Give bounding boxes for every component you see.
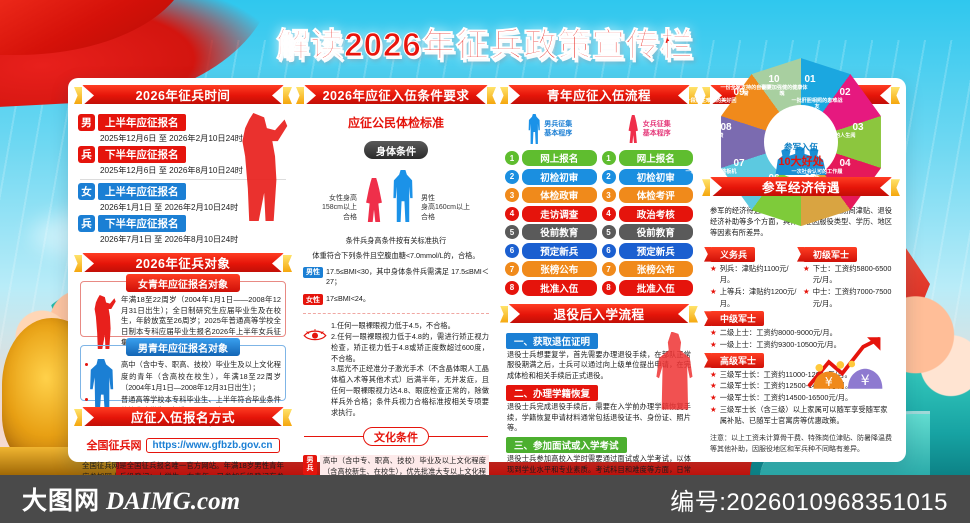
- flow-step[interactable]: 5役前教育: [602, 224, 694, 240]
- star-icon: ★: [710, 339, 717, 350]
- flow-step[interactable]: 6预定新兵: [602, 243, 694, 259]
- flow-step[interactable]: 4政治考核: [602, 206, 694, 222]
- male-second-half-label: 下半年应征报名: [98, 146, 186, 163]
- step-number: 3: [602, 188, 616, 202]
- pay-item-text: 中士：工资约7000-7500元/月。: [813, 286, 892, 309]
- step-number: 8: [602, 281, 616, 295]
- pay-item: ★一级军士长：工资约14500-16500元/月。: [710, 392, 892, 404]
- ribbon-notch-left: [710, 177, 722, 198]
- wheel-center-line2: 10大好处: [778, 153, 823, 169]
- section-header-economic-treatment: 参军经济待遇: [710, 177, 892, 196]
- retire-step-title: 二、办理学籍恢复: [506, 385, 598, 401]
- step-label: 张榜公布: [619, 261, 694, 277]
- star-icon: ★: [710, 380, 717, 391]
- pay-item: ★中士：工资约7000-7500元/月。: [803, 286, 892, 309]
- column-enlistment-time: 2026年征兵时间 男 上半年应征报名 2025年12月6日 至 2026年2月…: [74, 85, 292, 455]
- step-label: 走访调查: [522, 206, 597, 222]
- section-header-label: 青年应征入伍流程: [547, 85, 651, 104]
- ribbon-notch-left: [508, 85, 520, 106]
- pay-item-text: 下士：工资约5800-6500元/月。: [813, 263, 892, 286]
- flow-step[interactable]: 5役前教育: [505, 224, 597, 240]
- step-number: 5: [505, 225, 519, 239]
- page-title: 解读2026年征兵政策宣传栏: [0, 18, 970, 66]
- section-header-requirements: 2026年应征入伍条件要求: [304, 85, 488, 104]
- bmi-female-value: 17≤BMI<24。: [326, 294, 370, 305]
- step-number: 6: [505, 244, 519, 258]
- gov-site-row: 全国征兵网 https://www.gfbzb.gov.cn: [74, 437, 292, 453]
- section-header-enlistment-time: 2026年征兵时间: [82, 85, 284, 104]
- column-benefits-and-pay: 参军入伍十大好处 参军入伍 10大好处 01 一副更加强健的健康体魄 02 一批…: [702, 85, 900, 455]
- gov-site-label: 全国征兵网: [87, 437, 142, 453]
- step-label: 预定新兵: [619, 243, 694, 259]
- step-number: 5: [602, 225, 616, 239]
- pay-item: ★上等兵：津贴约1200元/月。: [710, 286, 799, 309]
- ribbon-notch-left: [82, 407, 94, 428]
- pay-group-title: 高级军士: [710, 353, 764, 368]
- step-number: 1: [505, 151, 519, 165]
- female-saluting-silhouette-icon: [85, 295, 117, 349]
- male-height-caption: 男性 身高160cm以上 合格: [421, 194, 470, 222]
- step-label: 网上报名: [619, 150, 694, 166]
- step-label: 初检初审: [619, 169, 694, 185]
- body-condition-title-wrap: 身体条件: [296, 137, 496, 162]
- male-object-title: 男青年应征报名对象: [126, 338, 240, 356]
- ribbon-notch-right: [678, 85, 690, 106]
- star-icon: ★: [803, 263, 810, 274]
- wheel-center-label: 参军入伍 10大好处: [764, 105, 838, 179]
- student-soldier-silhouette-icon: [652, 332, 696, 410]
- pay-item: ★下士：工资约5800-6500元/月。: [803, 263, 892, 286]
- section-header-enlistment-object: 2026年征兵对象: [82, 253, 284, 272]
- female-flow-steps: 1网上报名 2初检初审 3体检考评 4政治考核 5役前教育 6预定新兵 7张榜公…: [602, 150, 694, 296]
- section-header-process: 青年应征入伍流程: [508, 85, 690, 104]
- pay-item-text: 列兵：津贴约1100元/月。: [720, 263, 799, 286]
- pay-details: 义务兵 ★列兵：津贴约1100元/月。 ★上等兵：津贴约1200元/月。 初级军…: [702, 245, 900, 427]
- bmi-male-value: 17.5≤BMI<30，其中身体条件兵需满足 17.5≤BMI＜27；: [326, 267, 489, 289]
- male-figure-icon: [527, 114, 541, 144]
- flow-step[interactable]: 8批准入伍: [602, 280, 694, 296]
- special-condition-note: 条件兵身高条件按有关标准执行: [296, 236, 496, 247]
- pay-group-title: 义务兵: [710, 247, 755, 262]
- bmi-male-line: 男性 17.5≤BMI<30，其中身体条件兵需满足 17.5≤BMI＜27；: [296, 267, 496, 289]
- step-label: 批准入伍: [522, 280, 597, 296]
- culture-male-tag: 男兵: [303, 455, 317, 474]
- retire-step-title: 三、参加面试或入学考试: [506, 437, 627, 453]
- step-number: 7: [505, 262, 519, 276]
- step-label: 役前教育: [522, 224, 597, 240]
- footer-brand: 大图网 DAIMG.com: [22, 481, 240, 517]
- flow-step[interactable]: 4走访调查: [505, 206, 597, 222]
- ribbon-notch-left: [508, 304, 520, 325]
- ten-benefits-wheel: 参军入伍 10大好处 01 一副更加强健的健康体魄 02 一批肝胆相照的患难战友…: [702, 111, 900, 173]
- female-badge-char1: 女: [78, 183, 95, 200]
- flow-step[interactable]: 8批准入伍: [505, 280, 597, 296]
- star-icon: ★: [710, 327, 717, 338]
- step-label: 批准入伍: [619, 280, 694, 296]
- svg-text:¥: ¥: [861, 373, 870, 389]
- pay-group-conscript: 义务兵 ★列兵：津贴约1100元/月。 ★上等兵：津贴约1200元/月。: [710, 245, 799, 310]
- flow-step[interactable]: 2初检初审: [505, 169, 597, 185]
- female-enlistment-object-box: 女青年应征报名对象 年满18至22周岁（2004年1月1日——2008年12月3…: [80, 281, 286, 337]
- culture-title-wrap: 文化条件: [296, 422, 496, 449]
- column-enlistment-process: 青年应征入伍流程 男兵征集 基本程序 女兵征集 基本程序 1网上报名 2初检初审…: [500, 85, 698, 455]
- section-header-label: 2026年征兵时间: [136, 85, 231, 104]
- vision-item: 1.任何一眼裸眼视力低于4.5，不合格。: [331, 321, 489, 332]
- female-height-caption: 女性身高 158cm以上 合格: [322, 194, 357, 222]
- star-icon: ★: [710, 392, 717, 403]
- ribbon-notch-right: [880, 177, 892, 198]
- vision-items: 1.任何一眼裸眼视力低于4.5，不合格。 2.任何一眼裸眼视力低于4.8的，需进…: [331, 321, 489, 418]
- ribbon-notch-right: [880, 85, 892, 106]
- ribbon-notch-right: [678, 304, 690, 325]
- step-number: 2: [602, 170, 616, 184]
- pay-item-text: 三级军士长（含三级）以上家属可以随军享受随军家属补贴、已随军士官寓房等优惠政策。: [720, 404, 892, 427]
- vision-item: 2.任何一眼裸眼视力低于4.8的，需进行矫正视力检查，矫正视力低于4.8或矫正度…: [331, 332, 489, 364]
- male-flow-header: 男兵征集 基本程序: [527, 114, 572, 144]
- pay-item-text: 一级军士长：工资约14500-16500元/月。: [720, 392, 853, 404]
- male-badge-char2: 兵: [78, 146, 95, 163]
- ribbon-notch-right: [272, 85, 284, 106]
- enlistment-time-box: 男 上半年应征报名 2025年12月6日 至 2026年2月10日24时 兵 下…: [74, 111, 292, 249]
- step-number: 1: [602, 151, 616, 165]
- weight-note: 体重符合下列条件且空腹血糖<7.0mmol/L的，合格。: [296, 251, 496, 262]
- ribbon-notch-left: [304, 85, 316, 106]
- column-enlistment-requirements: 2026年应征入伍条件要求 应征公民体检标准 身体条件 女性身高 158cm以上…: [296, 85, 496, 455]
- flow-step[interactable]: 2初检初审: [602, 169, 694, 185]
- body-condition-title: 身体条件: [364, 141, 428, 159]
- bmi-male-tag: 男性: [303, 267, 323, 278]
- svg-text:¥: ¥: [825, 374, 833, 389]
- star-icon: ★: [803, 286, 810, 297]
- star-icon: ★: [710, 263, 717, 274]
- ribbon-notch-right: [476, 85, 488, 106]
- step-label: 体检考评: [619, 187, 694, 203]
- pay-group-title: 中级军士: [710, 311, 764, 326]
- male-flow-caption: 男兵征集 基本程序: [544, 120, 572, 138]
- female-figure-icon: [363, 178, 385, 222]
- pay-group-junior-sergeant: 初级军士 ★下士：工资约5800-6500元/月。 ★中士：工资约7000-75…: [803, 245, 892, 310]
- flow-columns: 1网上报名 2初检初审 3体检政审 4走访调查 5役前教育 6预定新兵 7张榜公…: [500, 150, 698, 296]
- divider-dashed: [303, 313, 489, 314]
- step-label: 役前教育: [619, 224, 694, 240]
- section-header-retire-enroll: 退役后入学流程: [508, 304, 690, 323]
- step-number: 2: [505, 170, 519, 184]
- wheel-center-line1: 参军入伍: [784, 141, 818, 153]
- height-figures: 女性身高 158cm以上 合格 男性 身高160cm以上 合格: [296, 170, 496, 222]
- content-board: 2026年征兵时间 男 上半年应征报名 2025年12月6日 至 2026年2月…: [68, 78, 906, 462]
- footer-bar: 大图网 DAIMG.com 编号:2026010968351015: [0, 475, 970, 523]
- step-label: 体检政审: [522, 187, 597, 203]
- footer-brand-en: DAIMG.com: [106, 488, 240, 516]
- vision-item: 3.屈光不正经准分子激光手术（不含晶体眼人工晶体植入术等其他术式）后满半年，无并…: [331, 364, 489, 418]
- step-label: 初检初审: [522, 169, 597, 185]
- flow-headers: 男兵征集 基本程序 女兵征集 基本程序: [500, 114, 698, 144]
- male-figure-icon: [391, 170, 415, 222]
- pay-item-text: 上等兵：津贴约1200元/月。: [720, 286, 799, 309]
- step-label: 政治考核: [619, 206, 694, 222]
- vision-block: 1.任何一眼裸眼视力低于4.5，不合格。 2.任何一眼裸眼视力低于4.8的，需进…: [296, 321, 496, 418]
- pay-group-title: 初级军士: [803, 247, 857, 262]
- ribbon-notch-left: [82, 85, 94, 106]
- money-growth-icon: ¥ ¥: [804, 333, 890, 393]
- section-header-label: 参军经济待遇: [762, 177, 840, 196]
- section-header-label: 退役后入学流程: [553, 304, 644, 323]
- section-header-label: 应征入伍报名方式: [131, 407, 235, 426]
- flow-step[interactable]: 1网上报名: [505, 150, 597, 166]
- section-header-label: 2026年应征入伍条件要求: [323, 85, 470, 104]
- female-badge-char2: 兵: [78, 215, 95, 232]
- star-icon: ★: [710, 286, 717, 297]
- ribbon-notch-left: [82, 253, 94, 274]
- flow-step[interactable]: 1网上报名: [602, 150, 694, 166]
- pay-item: ★列兵：津贴约1100元/月。: [710, 263, 799, 286]
- flow-step[interactable]: 7张榜公布: [505, 261, 597, 277]
- section-header-signup-method: 应征入伍报名方式: [82, 407, 284, 426]
- step-label: 网上报名: [522, 150, 597, 166]
- ribbon-notch-right: [272, 253, 284, 274]
- female-first-half-label: 上半年应征报名: [98, 183, 186, 200]
- step-number: 8: [505, 281, 519, 295]
- step-number: 3: [505, 188, 519, 202]
- star-icon: ★: [710, 369, 717, 380]
- step-label: 张榜公布: [522, 261, 597, 277]
- step-number: 6: [602, 244, 616, 258]
- eye-icon: [303, 327, 327, 343]
- star-icon: ★: [710, 404, 717, 415]
- male-first-half-label: 上半年应征报名: [98, 114, 186, 131]
- bmi-female-line: 女性 17≤BMI<24。: [296, 294, 496, 305]
- footer-brand-cn: 大图网: [22, 481, 100, 517]
- retire-step-title: 一、获取退伍证明: [506, 333, 598, 349]
- ribbon-notch-left: [710, 85, 722, 106]
- pay-note-text: 注意：以上工资未计算骨干费、特殊岗位津贴、防暑降温费等其他补助，因服役地区和军兵…: [702, 431, 900, 455]
- medical-standard-subtitle: 应征公民体检标准: [296, 114, 496, 131]
- bmi-female-tag: 女性: [303, 294, 323, 305]
- pay-item: ★三级军士长（含三级）以上家属可以随军享受随军家属补贴、已随军士官寓房等优惠政策…: [710, 404, 892, 427]
- female-figure-icon: [627, 115, 640, 143]
- female-flow-caption: 女兵征集 基本程序: [643, 120, 671, 138]
- footer-code: 编号:2026010968351015: [670, 482, 948, 517]
- female-second-half-date: 2026年7月1日 至 2026年8月10日24时: [100, 233, 288, 245]
- female-object-title: 女青年应征报名对象: [126, 274, 240, 292]
- female-flow-header: 女兵征集 基本程序: [627, 114, 671, 144]
- flow-step[interactable]: 3体检政审: [505, 187, 597, 203]
- ribbon-notch-right: [272, 407, 284, 428]
- pay-top-groups: 义务兵 ★列兵：津贴约1100元/月。 ★上等兵：津贴约1200元/月。 初级军…: [702, 245, 900, 310]
- step-number: 4: [602, 207, 616, 221]
- flow-step[interactable]: 3体检考评: [602, 187, 694, 203]
- gov-site-url[interactable]: https://www.gfbzb.gov.cn: [146, 438, 280, 453]
- step-number: 7: [602, 262, 616, 276]
- male-badge-char1: 男: [78, 114, 95, 131]
- step-label: 预定新兵: [522, 243, 597, 259]
- male-enlistment-object-box: 男青年应征报名对象 高中（含中专、职高、技校）毕业生及以上文化程度的青年（含高校…: [80, 345, 286, 401]
- flow-step[interactable]: 7张榜公布: [602, 261, 694, 277]
- section-header-label: 2026年征兵对象: [136, 253, 231, 272]
- step-number: 4: [505, 207, 519, 221]
- male-flow-steps: 1网上报名 2初检初审 3体检政审 4走访调查 5役前教育 6预定新兵 7张榜公…: [505, 150, 597, 296]
- female-second-half-label: 下半年应征报名: [98, 215, 186, 232]
- culture-condition-title: 文化条件: [363, 427, 429, 446]
- list-item: 高中（含中专、职高、技校）毕业生及以上文化程度的青年（含高校在校生），年满18至…: [85, 359, 281, 394]
- flow-step[interactable]: 6预定新兵: [505, 243, 597, 259]
